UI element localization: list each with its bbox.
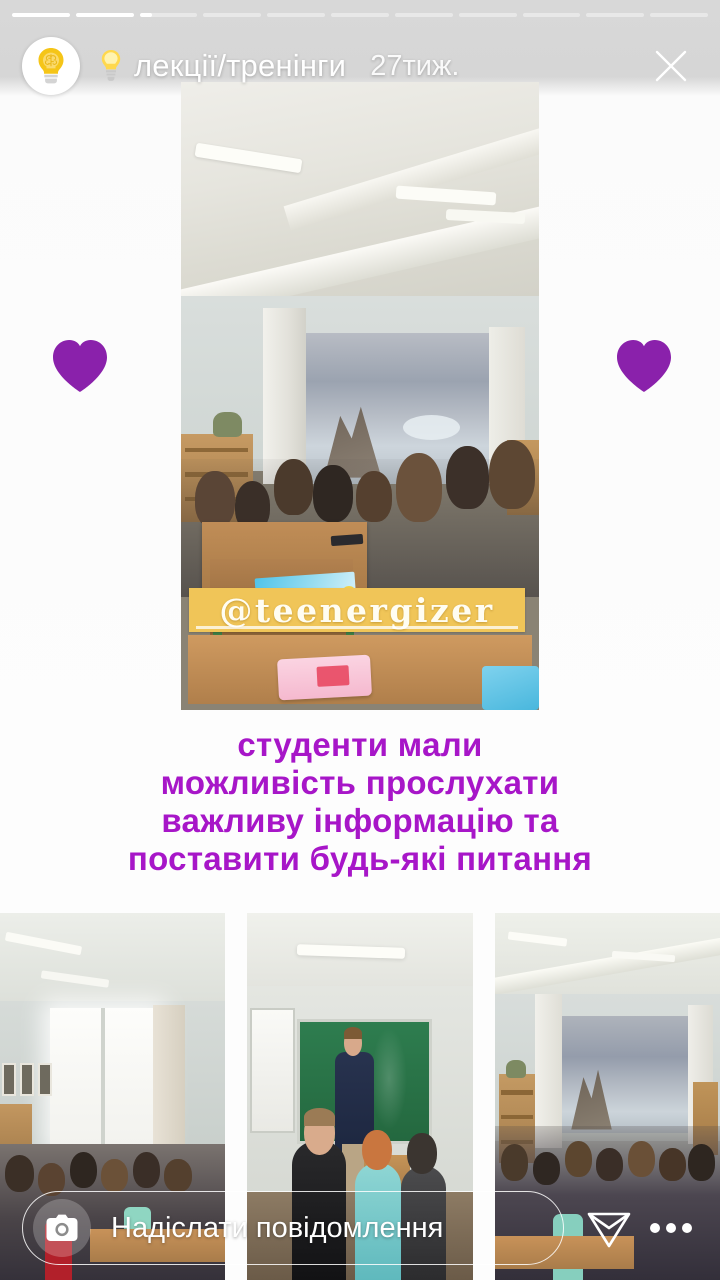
panel-student-head bbox=[628, 1141, 655, 1178]
photo-pencil-case-art bbox=[317, 665, 350, 687]
close-icon[interactable] bbox=[644, 39, 698, 93]
panel-student-head bbox=[565, 1141, 592, 1178]
panel-whiteboard bbox=[250, 1008, 295, 1133]
caption-line: поставити будь-які питання bbox=[40, 840, 680, 878]
photo-student-head bbox=[489, 440, 536, 509]
photo-student-head bbox=[446, 446, 489, 509]
progress-segment[interactable] bbox=[12, 13, 70, 17]
panel-plant bbox=[506, 1060, 526, 1078]
panel-column bbox=[535, 994, 562, 1148]
photo-mural-cloud bbox=[403, 415, 460, 440]
progress-segment[interactable] bbox=[586, 13, 644, 17]
story-header-info[interactable]: лекції/тренінги 27тиж. bbox=[98, 48, 644, 84]
progress-segment[interactable] bbox=[395, 13, 453, 17]
progress-segment[interactable] bbox=[76, 13, 134, 17]
story-progress-bar[interactable] bbox=[12, 12, 708, 18]
lightbulb-icon bbox=[98, 49, 124, 83]
caption-line: студенти мали bbox=[40, 726, 680, 764]
panel-seated-person-hair bbox=[304, 1108, 336, 1126]
photo-student-head bbox=[356, 471, 392, 521]
panel-wall-portraits bbox=[2, 1063, 52, 1096]
panel-chalkboard-sheen bbox=[371, 1027, 407, 1130]
story-caption: студенти мали можливість прослухати важл… bbox=[40, 726, 680, 878]
photo-student-head bbox=[195, 471, 234, 528]
progress-segment[interactable] bbox=[203, 13, 261, 17]
progress-segment[interactable] bbox=[267, 13, 325, 17]
mention-sticker-underline bbox=[196, 626, 518, 629]
purple-heart-icon bbox=[612, 336, 676, 394]
progress-segment[interactable] bbox=[459, 13, 517, 17]
send-icon[interactable] bbox=[578, 1197, 640, 1259]
purple-heart-icon bbox=[48, 336, 112, 394]
photo-student-head bbox=[396, 453, 443, 522]
panel-seated-person-head bbox=[362, 1130, 391, 1170]
story-title: лекції/тренінги bbox=[134, 48, 346, 84]
story-viewer-screen: @teenergizer студенти мали можливість пр… bbox=[0, 0, 720, 1280]
reply-bar: Надіслати повідомлення bbox=[0, 1176, 720, 1280]
caption-line: важливу інформацію та bbox=[40, 802, 680, 840]
panel-window bbox=[50, 1008, 158, 1147]
photo-student-head bbox=[274, 459, 313, 516]
photo-student-head bbox=[313, 465, 352, 522]
more-options-icon[interactable] bbox=[644, 1201, 698, 1255]
panel-seated-person-head bbox=[407, 1133, 436, 1173]
progress-segment[interactable] bbox=[650, 13, 708, 17]
panel-ceiling bbox=[0, 913, 225, 1008]
panel-curtain bbox=[153, 1005, 185, 1152]
mention-sticker-text: @teenergizer bbox=[219, 591, 494, 630]
story-media[interactable]: @teenergizer студенти мали можливість пр… bbox=[0, 0, 720, 1280]
avatar[interactable] bbox=[22, 37, 80, 95]
photo-column bbox=[263, 308, 306, 484]
progress-segment[interactable] bbox=[523, 13, 581, 17]
progress-segment[interactable] bbox=[331, 13, 389, 17]
progress-segment-active[interactable] bbox=[140, 13, 198, 17]
story-header: лекції/тренінги 27тиж. bbox=[0, 28, 720, 104]
reply-placeholder: Надіслати повідомлення bbox=[111, 1212, 443, 1245]
photo-blue-item bbox=[482, 666, 539, 710]
reply-input[interactable]: Надіслати повідомлення bbox=[22, 1191, 564, 1265]
caption-line: можливість прослухати bbox=[40, 764, 680, 802]
panel-presenter-hair bbox=[344, 1027, 362, 1039]
photo-plant bbox=[213, 412, 242, 437]
camera-icon[interactable] bbox=[33, 1199, 91, 1257]
story-timestamp: 27тиж. bbox=[370, 50, 459, 83]
